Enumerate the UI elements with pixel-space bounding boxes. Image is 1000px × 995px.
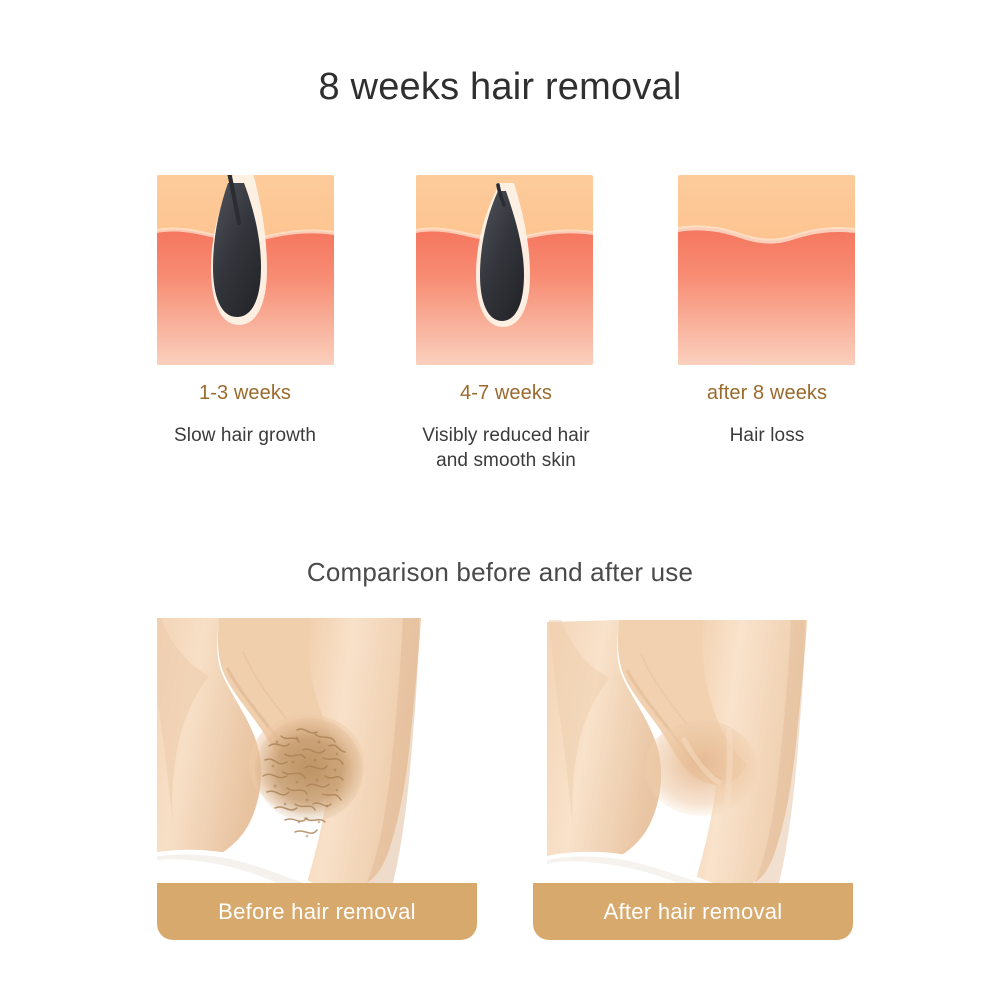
stage-weeks-label-1: 1-3 weeks: [120, 380, 370, 406]
stage-diagram-3: [678, 175, 855, 365]
stage-diagram-2: [416, 175, 593, 365]
stage-description-1: Slow hair growth: [120, 423, 370, 448]
stage-caption-1: 1-3 weeks Slow hair growth: [120, 380, 370, 448]
stage-diagram-row: [157, 175, 855, 367]
comparison-photo-row: Before hair removal: [0, 618, 1000, 940]
comparison-heading: Comparison before and after use: [0, 557, 1000, 588]
stage-caption-3: after 8 weeks Hair loss: [642, 380, 892, 448]
stage-caption-2: 4-7 weeks Visibly reduced hair and smoot…: [381, 380, 631, 473]
stage-description-2: Visibly reduced hair and smooth skin: [381, 423, 631, 473]
stage-weeks-label-2: 4-7 weeks: [381, 380, 631, 406]
stage-diagram-1: [157, 175, 334, 365]
stage-description-2-line2: and smooth skin: [381, 448, 631, 473]
stage-description-3: Hair loss: [642, 423, 892, 448]
stage-weeks-label-3: after 8 weeks: [642, 380, 892, 406]
underarm-smooth-photo: [533, 618, 853, 883]
photo-caption-after: After hair removal: [533, 883, 853, 940]
stage-caption-row: 1-3 weeks Slow hair growth 4-7 weeks Vis…: [120, 380, 892, 490]
product-infographic: 8 weeks hair removal: [0, 0, 1000, 995]
stage-description-2-line1: Visibly reduced hair: [381, 423, 631, 448]
underarm-with-hair-photo: [157, 618, 477, 883]
page-title: 8 weeks hair removal: [0, 66, 1000, 109]
photo-caption-before: Before hair removal: [157, 883, 477, 940]
comparison-panel-before: Before hair removal: [157, 618, 477, 940]
comparison-panel-after: After hair removal: [533, 618, 853, 940]
